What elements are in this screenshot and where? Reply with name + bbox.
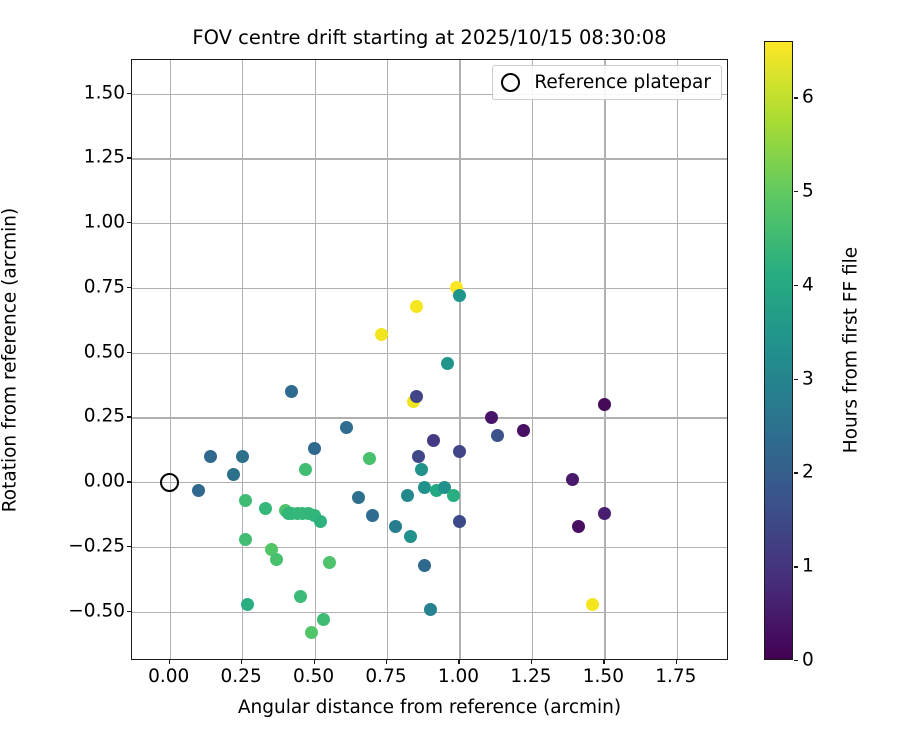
scatter-point: [363, 452, 376, 465]
gridline-horizontal: [132, 288, 727, 289]
scatter-point: [314, 515, 327, 528]
colorbar-tick-label: 2: [802, 462, 814, 483]
reference-platepar-point: [160, 473, 179, 492]
x-tick-label: 0.00: [148, 666, 189, 687]
y-axis-label: Rotation from reference (arcmin): [0, 208, 21, 512]
colorbar-tick-mark: [794, 379, 798, 380]
gridline-vertical: [532, 60, 533, 659]
scatter-point: [453, 445, 466, 458]
scatter-point: [204, 450, 217, 463]
colorbar: [764, 41, 793, 660]
scatter-point: [401, 489, 414, 502]
x-tick-mark: [386, 660, 387, 664]
scatter-point: [453, 515, 466, 528]
colorbar-tick-mark: [794, 660, 798, 661]
colorbar-tick-mark: [794, 285, 798, 286]
scatter-point: [294, 590, 307, 603]
scatter-point: [227, 468, 240, 481]
x-axis-label: Angular distance from reference (arcmin): [131, 697, 728, 718]
x-tick-label: 1.25: [510, 666, 551, 687]
x-tick-label: 0.25: [221, 666, 262, 687]
gridline-horizontal: [132, 158, 727, 159]
scatter-point: [323, 556, 336, 569]
scatter-point: [375, 328, 388, 341]
gridline-vertical: [170, 60, 171, 659]
scatter-point: [491, 429, 504, 442]
x-tick-mark: [458, 660, 459, 664]
x-tick-label: 0.50: [293, 666, 334, 687]
scatter-point: [453, 289, 466, 302]
y-tick-mark: [127, 157, 131, 158]
gridline-horizontal: [132, 353, 727, 354]
y-tick-mark: [127, 352, 131, 353]
scatter-point: [239, 494, 252, 507]
scatter-point: [410, 300, 423, 313]
legend: Reference platepar: [492, 65, 722, 100]
y-tick-label: 1.50: [84, 82, 125, 103]
gridline-horizontal: [132, 547, 727, 548]
colorbar-label: Hours from first FF file: [841, 247, 862, 453]
scatter-point: [598, 507, 611, 520]
scatter-point: [572, 520, 585, 533]
x-tick-mark: [241, 660, 242, 664]
scatter-plot-figure: FOV centre drift starting at 2025/10/15 …: [0, 0, 900, 750]
scatter-point: [352, 491, 365, 504]
x-tick-mark: [603, 660, 604, 664]
y-tick-label: −0.25: [68, 536, 125, 557]
x-tick-label: 1.00: [438, 666, 479, 687]
y-tick-mark: [127, 287, 131, 288]
gridline-vertical: [242, 60, 243, 659]
colorbar-tick-mark: [794, 472, 798, 473]
gridline-vertical: [315, 60, 316, 659]
y-tick-mark: [127, 546, 131, 547]
y-tick-label: 0.25: [84, 406, 125, 427]
scatter-point: [586, 598, 599, 611]
y-tick-label: 0.00: [84, 471, 125, 492]
scatter-point: [305, 626, 318, 639]
scatter-point: [566, 473, 579, 486]
x-tick-mark: [676, 660, 677, 664]
scatter-point: [317, 613, 330, 626]
y-tick-label: 1.25: [84, 147, 125, 168]
scatter-point: [259, 502, 272, 515]
x-tick-label: 0.75: [365, 666, 406, 687]
colorbar-tick-mark: [794, 97, 798, 98]
scatter-point: [299, 463, 312, 476]
plot-area: Reference platepar: [131, 59, 728, 660]
gridline-vertical: [459, 60, 460, 659]
colorbar-tick-label: 6: [802, 87, 814, 108]
scatter-point: [415, 463, 428, 476]
scatter-point: [285, 385, 298, 398]
scatter-point: [389, 520, 402, 533]
legend-entry-label: Reference platepar: [534, 72, 711, 93]
scatter-point: [192, 484, 205, 497]
scatter-point: [427, 434, 440, 447]
colorbar-tick-label: 4: [802, 274, 814, 295]
x-tick-label: 1.75: [655, 666, 696, 687]
scatter-point: [340, 421, 353, 434]
scatter-point: [366, 509, 379, 522]
y-tick-mark: [127, 481, 131, 482]
colorbar-tick-label: 5: [802, 181, 814, 202]
scatter-point: [485, 411, 498, 424]
x-tick-mark: [531, 660, 532, 664]
y-tick-label: 0.50: [84, 341, 125, 362]
scatter-point: [404, 530, 417, 543]
gridline-vertical: [387, 60, 388, 659]
colorbar-tick-mark: [794, 566, 798, 567]
scatter-point: [412, 450, 425, 463]
scatter-point: [239, 533, 252, 546]
scatter-point: [517, 424, 530, 437]
y-tick-mark: [127, 93, 131, 94]
chart-title: FOV centre drift starting at 2025/10/15 …: [131, 26, 728, 49]
x-tick-mark: [314, 660, 315, 664]
scatter-point: [241, 598, 254, 611]
y-tick-mark: [127, 222, 131, 223]
x-tick-label: 1.50: [583, 666, 624, 687]
gridline-horizontal: [132, 223, 727, 224]
scatter-point: [410, 390, 423, 403]
colorbar-tick-mark: [794, 191, 798, 192]
gridline-vertical: [677, 60, 678, 659]
scatter-point: [270, 553, 283, 566]
gridline-horizontal: [132, 417, 727, 418]
scatter-point: [308, 442, 321, 455]
colorbar-gradient: [765, 42, 792, 659]
reference-platepar-marker-icon: [501, 73, 520, 92]
colorbar-tick-label: 3: [802, 368, 814, 389]
y-tick-mark: [127, 611, 131, 612]
scatter-point: [598, 398, 611, 411]
y-tick-label: 0.75: [84, 276, 125, 297]
y-tick-mark: [127, 416, 131, 417]
scatter-point: [236, 450, 249, 463]
gridline-vertical: [604, 60, 605, 659]
x-tick-mark: [169, 660, 170, 664]
colorbar-tick-label: 1: [802, 556, 814, 577]
colorbar-tick-label: 0: [802, 650, 814, 671]
scatter-point: [441, 357, 454, 370]
scatter-point: [447, 489, 460, 502]
scatter-point: [418, 559, 431, 572]
y-tick-label: 1.00: [84, 212, 125, 233]
scatter-point: [424, 603, 437, 616]
y-tick-label: −0.50: [68, 600, 125, 621]
